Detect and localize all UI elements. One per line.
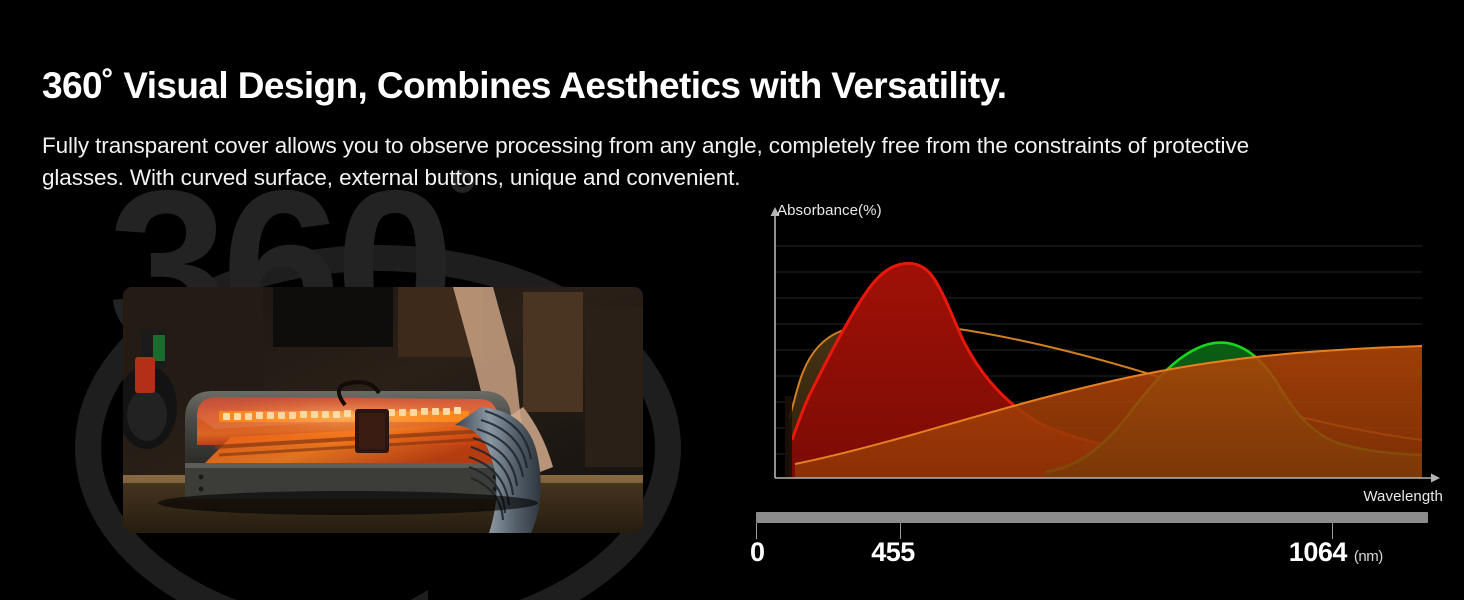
scale-label-455: 455	[871, 537, 915, 568]
scale-unit: (nm)	[1354, 548, 1383, 565]
page-title: 360˚ Visual Design, Combines Aesthetics …	[42, 66, 1006, 107]
x-axis-label: Wavelength	[1363, 488, 1443, 505]
promo-banner: 360˚ 360˚ Visual Design, Combines Aesthe…	[0, 0, 1464, 600]
scale-label-1064: 1064(nm)	[1289, 537, 1383, 568]
wavelength-scale: 0 455 1064(nm)	[756, 512, 1428, 577]
scalebar-track	[756, 512, 1428, 523]
page-subtitle: Fully transparent cover allows you to ob…	[42, 130, 1332, 194]
laser-engraver-illustration	[123, 287, 643, 533]
y-axis-label: Absorbance(%)	[777, 202, 882, 219]
absorbance-chart: Absorbance(%) Wavelength	[745, 200, 1445, 500]
product-photo	[123, 287, 643, 533]
scale-label-0: 0	[750, 537, 765, 568]
chart-plot	[745, 200, 1445, 500]
